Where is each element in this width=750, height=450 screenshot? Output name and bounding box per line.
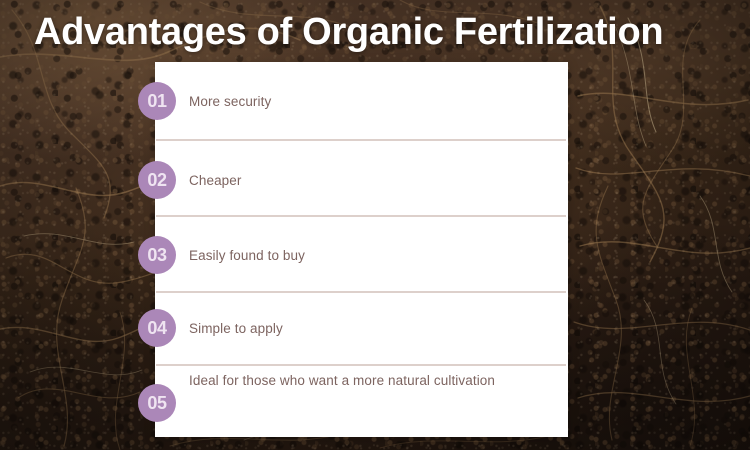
list-divider [156,291,566,293]
list-item-label: Simple to apply [189,321,519,336]
list-item-number-badge: 01 [138,82,176,120]
list-item-label: Cheaper [189,173,519,188]
list-item-number-badge: 02 [138,161,176,199]
list-item-label: Easily found to buy [189,248,519,263]
list-item-label: Ideal for those who want a more natural … [189,373,504,388]
list-item-number-badge: 03 [138,236,176,274]
list-item-number: 04 [147,318,166,339]
list-item-number-badge: 04 [138,309,176,347]
list-item-number: 02 [147,170,166,191]
advantages-card: 01 More security 02 Cheaper 03 Easily fo… [155,62,568,437]
poster-canvas: Advantages of Organic Fertilization 01 M… [0,0,750,450]
advantages-list: 01 More security 02 Cheaper 03 Easily fo… [155,62,568,437]
list-item-number-badge: 05 [138,384,176,422]
list-item-number: 05 [147,393,166,414]
list-item-number: 01 [147,91,166,112]
list-divider [156,139,566,141]
list-item-label: More security [189,94,519,109]
page-title: Advantages of Organic Fertilization [34,8,724,56]
list-divider [156,215,566,217]
list-item-number: 03 [147,245,166,266]
list-divider [156,364,566,366]
